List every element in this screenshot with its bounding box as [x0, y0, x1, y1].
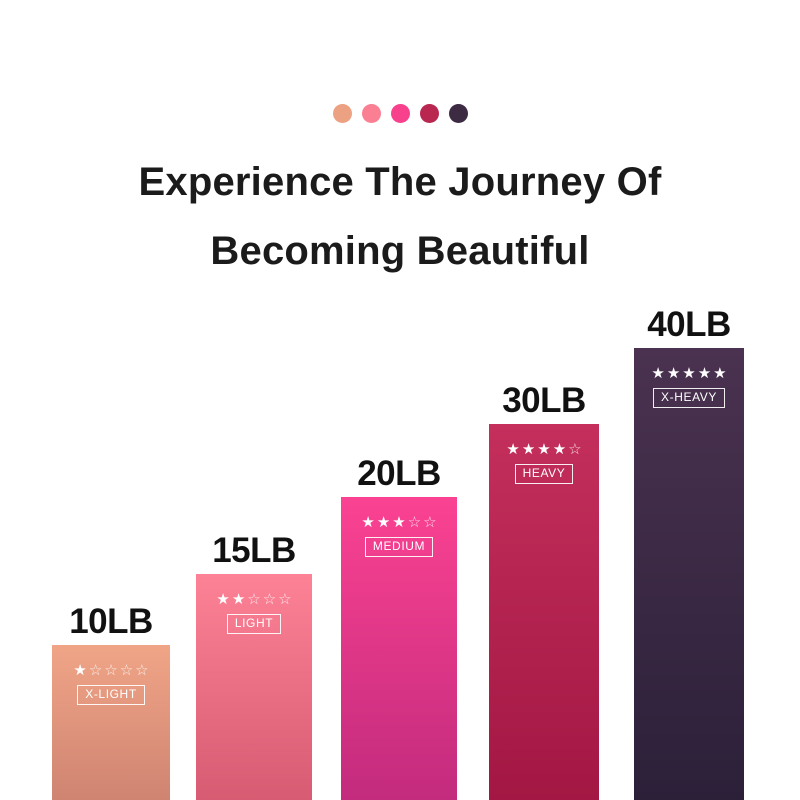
bar-group-15lb[interactable]: 15LB★★☆☆☆LIGHT — [196, 574, 312, 800]
resistance-level-badge: X-HEAVY — [653, 388, 725, 408]
star-filled-icon: ★ — [216, 592, 229, 607]
resistance-level-badge: HEAVY — [515, 464, 574, 484]
star-filled-icon: ★ — [377, 515, 390, 530]
bar-weight-label: 40LB — [647, 307, 731, 342]
star-empty-icon: ☆ — [278, 592, 291, 607]
star-empty-icon: ☆ — [135, 663, 148, 678]
bar-content: ★☆☆☆☆X-LIGHT — [52, 663, 170, 705]
resistance-level-badge: LIGHT — [227, 614, 281, 634]
bar-group-40lb[interactable]: 40LB★★★★★X-HEAVY — [634, 348, 744, 800]
bar-weight-label: 15LB — [212, 533, 296, 568]
star-empty-icon: ☆ — [120, 663, 133, 678]
star-filled-icon: ★ — [651, 366, 664, 381]
star-filled-icon: ★ — [682, 366, 695, 381]
bar-weight-label: 20LB — [357, 456, 441, 491]
bar-body: ★☆☆☆☆X-LIGHT — [52, 645, 170, 800]
star-filled-icon: ★ — [667, 366, 680, 381]
rating-stars: ★☆☆☆☆ — [73, 663, 148, 678]
bar-body: ★★★★★X-HEAVY — [634, 348, 744, 800]
star-filled-icon: ★ — [361, 515, 374, 530]
star-empty-icon: ☆ — [568, 442, 581, 457]
bar-content: ★★★★☆HEAVY — [489, 442, 599, 484]
star-filled-icon: ★ — [553, 442, 566, 457]
resistance-level-badge: MEDIUM — [365, 537, 433, 557]
star-filled-icon: ★ — [713, 366, 726, 381]
star-filled-icon: ★ — [232, 592, 245, 607]
bar-group-10lb[interactable]: 10LB★☆☆☆☆X-LIGHT — [52, 645, 170, 800]
rating-stars: ★★★★☆ — [506, 442, 581, 457]
bar-weight-label: 30LB — [502, 383, 586, 418]
bar-content: ★★★★★X-HEAVY — [634, 366, 744, 408]
bar-body: ★★★☆☆MEDIUM — [341, 497, 457, 800]
bar-body: ★★★★☆HEAVY — [489, 424, 599, 800]
star-empty-icon: ☆ — [408, 515, 421, 530]
rating-stars: ★★★☆☆ — [361, 515, 436, 530]
product-infographic: Experience The Journey Of Becoming Beaut… — [0, 0, 800, 800]
bar-content: ★★★☆☆MEDIUM — [341, 515, 457, 557]
bar-weight-label: 10LB — [69, 604, 153, 639]
star-empty-icon: ☆ — [263, 592, 276, 607]
star-filled-icon: ★ — [73, 663, 86, 678]
star-filled-icon: ★ — [506, 442, 519, 457]
rating-stars: ★★☆☆☆ — [216, 592, 291, 607]
star-filled-icon: ★ — [698, 366, 711, 381]
star-empty-icon: ☆ — [423, 515, 436, 530]
star-empty-icon: ☆ — [247, 592, 260, 607]
resistance-level-badge: X-LIGHT — [77, 685, 145, 705]
star-filled-icon: ★ — [392, 515, 405, 530]
star-empty-icon: ☆ — [89, 663, 102, 678]
bar-content: ★★☆☆☆LIGHT — [196, 592, 312, 634]
star-filled-icon: ★ — [537, 442, 550, 457]
resistance-band-bar-chart: 10LB★☆☆☆☆X-LIGHT15LB★★☆☆☆LIGHT20LB★★★☆☆M… — [0, 0, 800, 800]
bar-body: ★★☆☆☆LIGHT — [196, 574, 312, 800]
rating-stars: ★★★★★ — [651, 366, 726, 381]
star-empty-icon: ☆ — [104, 663, 117, 678]
bar-group-20lb[interactable]: 20LB★★★☆☆MEDIUM — [341, 497, 457, 800]
bar-group-30lb[interactable]: 30LB★★★★☆HEAVY — [489, 424, 599, 800]
star-filled-icon: ★ — [522, 442, 535, 457]
